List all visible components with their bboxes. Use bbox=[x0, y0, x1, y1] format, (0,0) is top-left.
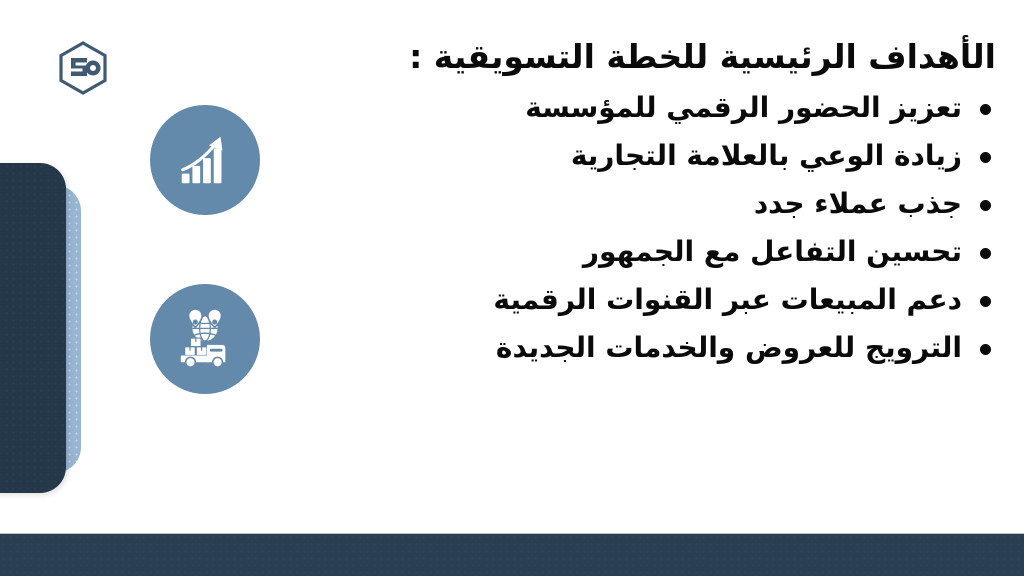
slide-content: الأهداف الرئيسية للخطة التسويقية : تعزيز… bbox=[316, 36, 996, 362]
list-item: زيادة الوعي بالعلامة التجارية bbox=[316, 142, 996, 170]
list-item: تحسين التفاعل مع الجمهور bbox=[316, 238, 996, 266]
bottom-accent-bar bbox=[0, 533, 1024, 576]
icon-circle-logistics bbox=[150, 284, 260, 394]
list-item: الترويج للعروض والخدمات الجديدة bbox=[316, 334, 996, 362]
list-item: جذب عملاء جدد bbox=[316, 190, 996, 218]
icon-circle-growth bbox=[150, 105, 260, 215]
page-title: الأهداف الرئيسية للخطة التسويقية : bbox=[316, 36, 996, 78]
decorative-panel-dark bbox=[0, 163, 66, 493]
list-item: تعزيز الحضور الرقمي للمؤسسة bbox=[316, 94, 996, 122]
global-logistics-icon bbox=[174, 308, 236, 370]
slide-canvas: الأهداف الرئيسية للخطة التسويقية : تعزيز… bbox=[0, 0, 1024, 576]
hexagon-cube-logo-icon bbox=[57, 41, 109, 95]
growth-chart-icon bbox=[174, 129, 236, 191]
list-item: دعم المبيعات عبر القنوات الرقمية bbox=[316, 286, 996, 314]
objectives-list: تعزيز الحضور الرقمي للمؤسسة زيادة الوعي … bbox=[316, 94, 996, 362]
